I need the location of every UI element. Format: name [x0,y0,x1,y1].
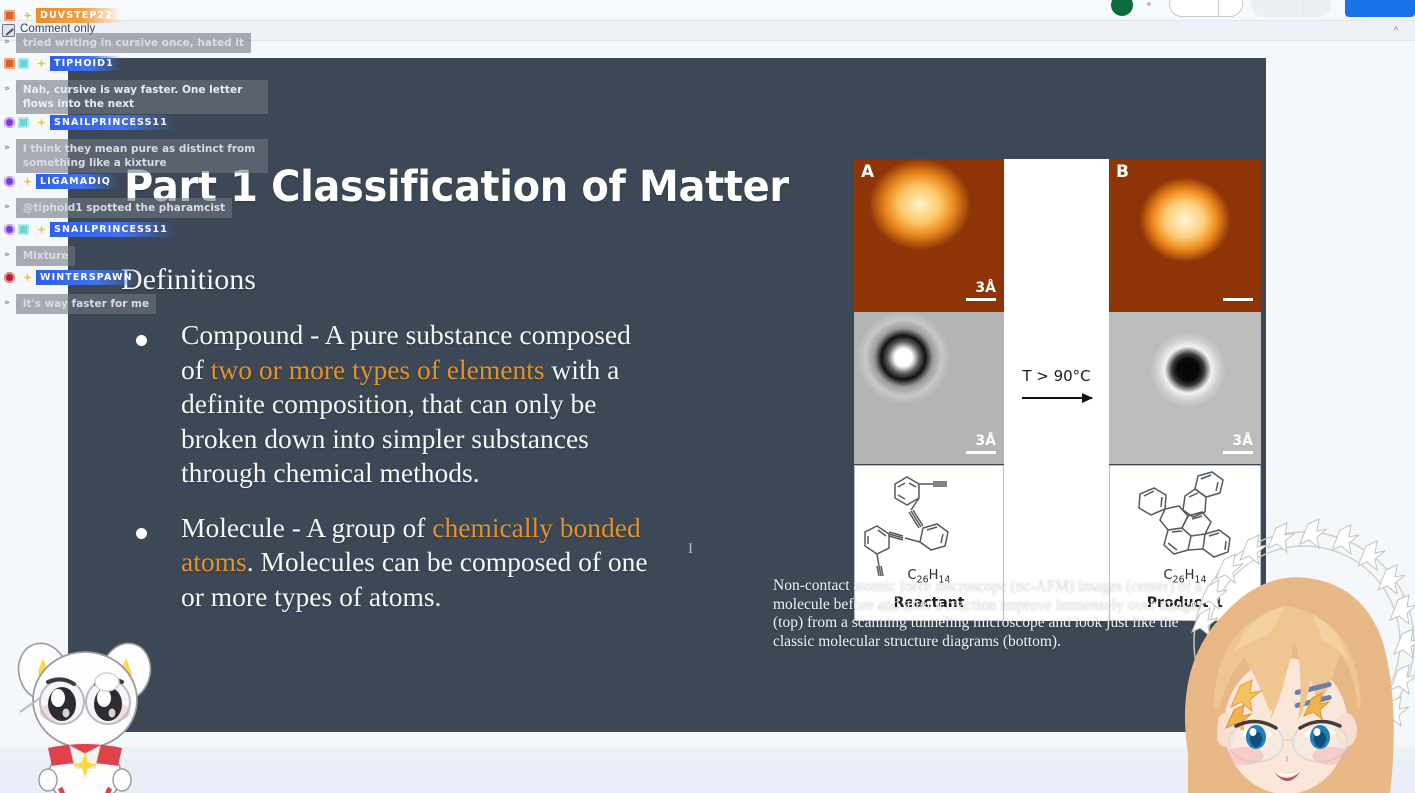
pencil-edit-icon [2,24,15,37]
share-button[interactable] [1345,0,1415,17]
afm-image-b: 3Å [1109,312,1261,464]
vtuber-avatar [1152,494,1415,793]
toolbar-divider-2 [1302,0,1303,17]
panel-letter-a: A [861,162,874,182]
toolbar-dot [1147,2,1151,6]
scalebar-label-a-top: 3Å [975,280,996,296]
editing-mode-bar[interactable]: Comment only ^ [0,21,1415,41]
toolbar-divider [1218,0,1219,17]
mascot-avatar [8,620,163,793]
bullet-suffix: . Molecules can be composed of one or mo… [181,546,648,612]
stm-heatmap-b [1109,159,1261,311]
reactant-molecule-diagram [855,466,1004,576]
panel-letter-b: B [1116,162,1129,182]
bullet-prefix: Molecule - A group of [181,512,432,543]
scalebar-label-a-mid: 3Å [975,433,996,449]
scalebar-b-mid [1223,451,1253,454]
bullet-dot-icon [136,335,147,346]
bullet-dot-icon [136,528,147,539]
presentation-mode-button[interactable] [1169,0,1243,17]
toolbar-secondary-button[interactable] [1251,0,1331,17]
slide-bullet-list[interactable]: Compound - A pure substance composed of … [136,318,736,634]
figure-caption: Non-contact atomic force microscope (nc-… [773,577,1203,651]
scalebar-label-b-mid: 3Å [1232,433,1253,449]
stm-image-a: A 3Å [854,159,1004,311]
figure-middle-column [1004,159,1109,465]
account-avatar[interactable] [1111,0,1133,16]
reaction-condition-label: T > 90°C [1004,367,1109,385]
bullet-highlight: two or more types of elements [211,354,545,385]
slide-title[interactable]: Part 1 Classification of Matter [124,162,789,212]
afm-image-a: 3Å [854,312,1004,464]
list-item[interactable]: Molecule - A group of chemically bonded … [136,511,736,615]
scalebar-a-mid [966,451,996,454]
slide-subtitle[interactable]: Definitions [121,263,256,297]
app-toolbar [0,0,1415,21]
chevron-up-icon[interactable]: ^ [1389,25,1403,37]
scalebar-b-top [1223,298,1253,301]
editing-mode-label: Comment only [20,23,95,35]
reaction-arrow-icon [1022,397,1092,399]
list-item[interactable]: Compound - A pure substance composed of … [136,318,736,491]
bullet-text: Compound - A pure substance composed of … [181,318,651,491]
stm-image-b: B [1109,159,1261,311]
text-cursor: I [688,541,697,558]
bullet-text: Molecule - A group of chemically bonded … [181,511,651,615]
scalebar-a-top [966,298,996,301]
slide-canvas[interactable]: Part 1 Classification of Matter Definiti… [68,58,1266,732]
